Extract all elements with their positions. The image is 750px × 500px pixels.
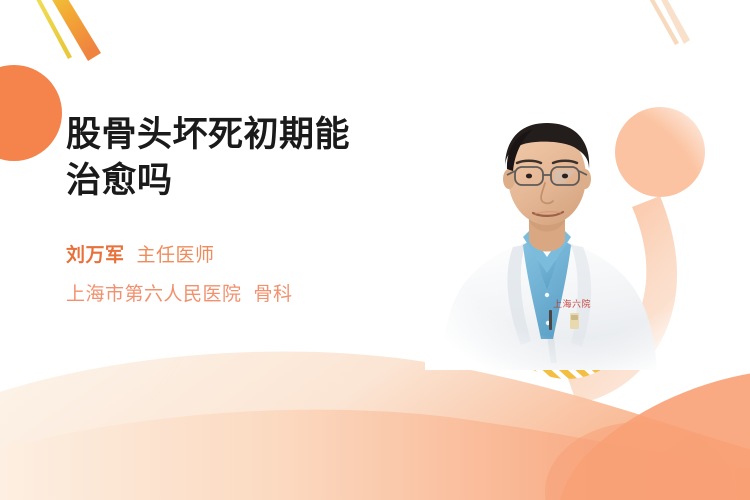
doctor-professional-title: 主任医师 bbox=[137, 245, 215, 266]
department-name: 骨科 bbox=[254, 284, 293, 305]
doctor-byline: 刘万军主任医师 bbox=[66, 241, 436, 271]
hospital-name: 上海市第六人民医院 bbox=[66, 284, 242, 305]
doctor-affiliation: 上海市第六人民医院骨科 bbox=[66, 280, 436, 310]
doctor-portrait: 上海六院 bbox=[425, 95, 725, 370]
title-line-1: 股骨头坏死初期能 bbox=[66, 115, 350, 154]
video-cover: 上海六院 股骨头坏死初期能治愈吗 刘万军主任医师 上海市第六人民医院骨科 bbox=[0, 0, 750, 500]
title-line-2: 治愈吗 bbox=[66, 161, 173, 200]
diagonal-stroke-amber bbox=[44, 0, 101, 61]
text-block: 股骨头坏死初期能治愈吗 刘万军主任医师 上海市第六人民医院骨科 bbox=[66, 112, 436, 310]
page-title: 股骨头坏死初期能治愈吗 bbox=[66, 112, 436, 204]
diagonal-stroke-pale-group bbox=[643, 0, 690, 45]
circle-orange-accent bbox=[0, 65, 62, 161]
doctor-name: 刘万军 bbox=[66, 245, 125, 266]
